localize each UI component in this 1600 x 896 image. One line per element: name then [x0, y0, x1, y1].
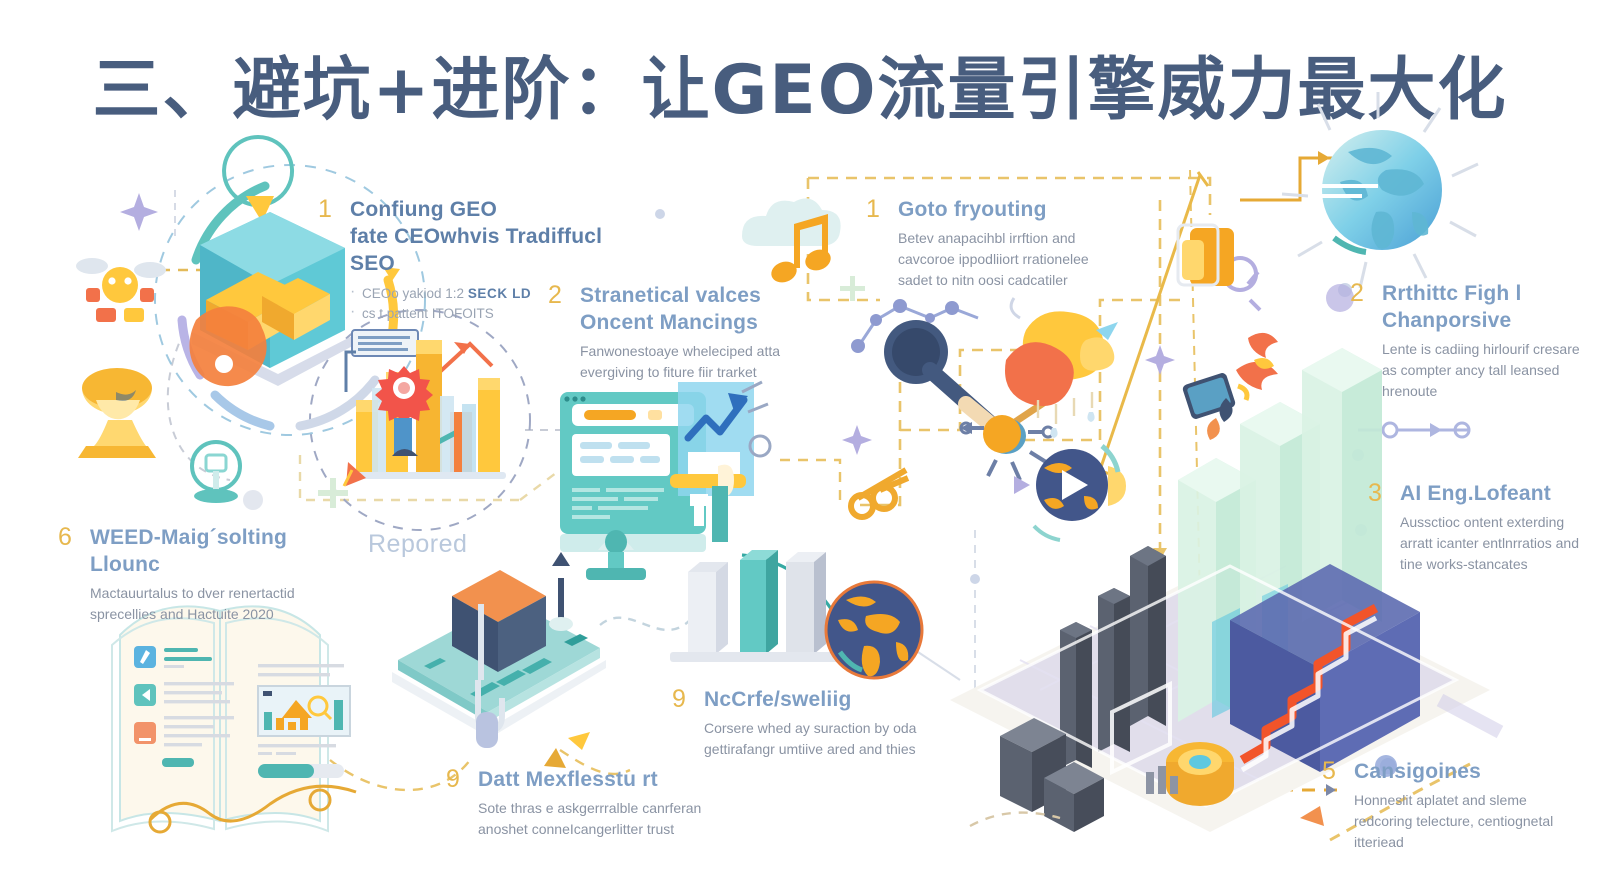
callout-subtext: Sote thras e askgerrralble canrferan ano… — [478, 798, 726, 840]
monitor-dashboard-illustration — [560, 392, 706, 580]
callout-heading-line1: Rrthittc Figh l — [1382, 280, 1590, 307]
callout-9: 5 Cansigoines Honneslit aplatet and slem… — [1322, 758, 1582, 853]
arrow-marker-illustration — [544, 732, 590, 768]
callout-6: 6 WEED-Maig´solting Llounc Mactauurtalus… — [58, 524, 348, 625]
callout-heading-line1: WEED-Maig´solting Llounc — [90, 524, 348, 578]
callout-subtext: Mactauurtalus to dver renertactid sprece… — [90, 583, 348, 625]
callout-number: 5 — [1322, 758, 1336, 786]
callout-subtext: Corsere whed ay suraction by oda gettira… — [704, 718, 952, 760]
callout-5: 3 AI Eng.Lofeant Aussctioc ontent exterd… — [1368, 480, 1596, 575]
orange-blob — [190, 306, 267, 386]
credit-card-cube-illustration — [392, 431, 606, 748]
goblet-illustration — [78, 368, 156, 458]
tablet-flame-illustration — [1178, 225, 1278, 440]
callout-4: 2 Rrthittc Figh l Chanporsive Lente is c… — [1350, 280, 1590, 402]
bar-chart-illustration — [344, 330, 506, 486]
callout-subtext: Lente is cadiing hirlourif cresare as co… — [1382, 339, 1590, 402]
trophy-illustration — [224, 137, 292, 250]
callout-number: 9 — [446, 766, 460, 794]
callout-heading-line1: Goto fryouting — [898, 196, 1116, 223]
callout-number: 2 — [548, 282, 562, 310]
callout-number: 6 — [58, 524, 72, 552]
callout-subtext: Aussctioc ontent exterding arratt icante… — [1400, 512, 1596, 575]
callout-heading-line2: Chanporsive — [1382, 307, 1590, 334]
callout-heading-line1: Datt Mexflesstu rt — [478, 766, 726, 793]
megaphone-illustration — [76, 258, 166, 322]
callout-heading-line2: Oncent Mancings — [580, 309, 808, 336]
scissors-illustration — [851, 470, 908, 517]
callout-subtext: Betev anapacihbl irrftion and cavcoroe i… — [898, 228, 1116, 291]
slide-canvas: 三、避坑+进阶：让GEO流量引擎威力最大化 — [0, 0, 1600, 896]
lightbulb-cluster-illustration — [1005, 298, 1118, 438]
callout-subtext: Fanwonestoaye wheleciped atta evergiving… — [580, 341, 808, 383]
lamp-illustration — [192, 442, 240, 503]
callout-heading-line1: Confiung GEO — [350, 196, 618, 223]
callout-number: 1 — [318, 196, 332, 224]
network-nodes-illustration — [851, 299, 1060, 480]
globe-play-illustration — [1014, 446, 1126, 540]
callout-subtext: Honneslit aplatet and sleme redcoring te… — [1354, 790, 1582, 853]
callout-heading-line1: Cansigoines — [1354, 758, 1582, 785]
callout-7: 9 NcCrfe/sweliig Corsere whed ay suracti… — [672, 686, 952, 760]
page-title: 三、避坑+进阶：让GEO流量引擎威力最大化 — [0, 34, 1600, 133]
open-book-illustration — [112, 606, 356, 832]
callout-heading-line1: NcCrfe/sweliig — [704, 686, 952, 713]
callout-heading-line2: fate CEOwhvis Tradiffucl SEO — [350, 223, 618, 277]
callout-8: 9 Datt Mexflesstu rt Sote thras e askger… — [446, 766, 726, 840]
callout-number: 1 — [866, 196, 880, 224]
globe-orange-illustration — [826, 582, 922, 678]
growth-arrow-illustration — [670, 382, 770, 542]
callout-2: 2 Stranetical valces Oncent Mancings Fan… — [548, 282, 808, 383]
callout-heading-line1: Stranetical valces — [580, 282, 808, 309]
callout-number: 2 — [1350, 280, 1364, 308]
callout-heading-line1: AI Eng.Lofeant — [1400, 480, 1596, 507]
callout-3: 1 Goto fryouting Betev anapacihbl irrfti… — [866, 196, 1116, 291]
music-note-cloud-illustration — [742, 198, 841, 285]
callout-number: 3 — [1368, 480, 1382, 508]
grey-bars-illustration — [670, 550, 840, 662]
floating-label-repored: Repored — [368, 530, 467, 559]
callout-number: 9 — [672, 686, 686, 714]
